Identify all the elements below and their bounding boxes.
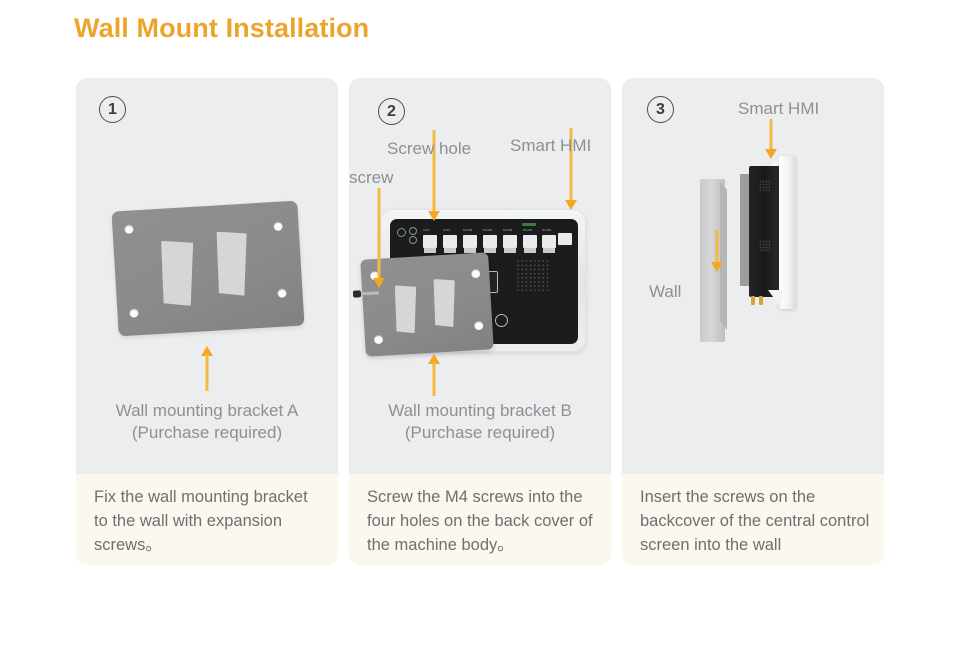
step-3-illustration: 3 Smart HMI Wall [622,78,884,474]
hmi-side-body [749,166,781,297]
speaker-dots-top-icon [759,180,770,191]
pcb-marker-1 [397,228,406,237]
step-badge-2: 2 [378,98,405,125]
terminal-block-7 [542,235,556,248]
step-card-3: 3 Smart HMI Wall [622,78,884,565]
terminal-block-5 [503,235,517,248]
page-root: Wall Mount Installation 1 Wall mounting … [0,0,960,671]
plate-b-hole-top-right [471,269,481,279]
terminal-label-4: RS485 [483,228,492,232]
terminal-block-4 [483,235,497,248]
screw-hole-label: Screw hole [387,139,471,159]
step-badge-3: 3 [647,96,674,123]
hmi-front-bezel [779,156,796,309]
plate-hole-bottom-right [277,288,287,298]
terminal-label-1: CAN [423,228,429,232]
step-3-caption: Insert the screws on the backcover of th… [622,474,884,565]
step-2-illustration: 2 CAN COM RS485 [349,78,611,474]
smart-hmi-label: Smart HMI [510,136,591,156]
bracket-b-arrow [427,354,441,396]
plate-b-hole-bottom-left [374,335,384,345]
terminal-label-2: COM [443,228,450,232]
terminal-block-6 [523,235,537,248]
terminal-label-3: RS485 [463,228,472,232]
screw-label: screw [349,168,393,188]
wall-bracket-plate-a [111,201,304,337]
terminal-block-2 [443,235,457,248]
smart-hmi-arrow [764,119,778,159]
terminal-block-1 [423,235,437,248]
bracket-b-tab-right [433,279,455,327]
screw-arrow [372,188,386,288]
wall-label: Wall [649,282,681,302]
plate-b-hole-bottom-right [474,321,484,331]
bracket-a-label-line2: (Purchase required) [76,422,338,444]
pcb-marker-2 [409,227,417,235]
step-badge-1: 1 [99,96,126,123]
smart-hmi-label: Smart HMI [738,99,819,119]
step-card-1: 1 Wall mounting bracket A (Purchase requ… [76,78,338,565]
status-led [522,223,536,226]
step-1-illustration: 1 Wall mounting bracket A (Purchase requ… [76,78,338,474]
terminal-label-5: RS485 [503,228,512,232]
bracket-a-arrow [200,346,214,391]
bracket-tab-left [160,241,193,306]
step-2-caption: Screw the M4 screws into the four holes … [349,474,611,565]
bracket-a-label-line1: Wall mounting bracket A [76,400,338,422]
reset-hole [495,314,508,327]
speaker-dots-bottom-icon [759,240,770,251]
page-title: Wall Mount Installation [74,13,369,44]
terminal-label-7: RS485 [542,228,551,232]
step-1-caption: Fix the wall mounting bracket to the wal… [76,474,338,565]
speaker-grille-icon [516,259,549,291]
bracket-b-tab-left [394,285,416,333]
terminal-label-6: RS485 [523,228,532,232]
terminal-block-3 [463,235,477,248]
bracket-tab-right [216,232,247,296]
bracket-b-label-line1: Wall mounting bracket B [349,400,611,422]
wall-arrow [710,230,724,272]
plate-hole-top-right [273,222,283,232]
plate-hole-bottom-left [129,308,139,318]
plate-hole-top-left [124,224,134,234]
connector-block [558,233,572,245]
bracket-b-label-line2: (Purchase required) [349,422,611,444]
step-card-2: 2 CAN COM RS485 [349,78,611,565]
back-cover-screw-1 [751,296,755,305]
pcb-marker-3 [409,236,417,244]
back-cover-screw-2 [759,296,763,305]
